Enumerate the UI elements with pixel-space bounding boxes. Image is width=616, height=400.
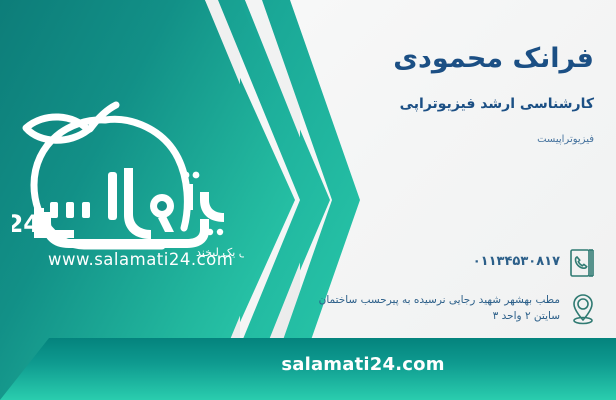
logo-badge-24: 24 (12, 208, 74, 238)
footer-website[interactable]: salamati24.com (0, 354, 616, 375)
business-card: 24 به راحتی یک لبخند www.salamati24.com … (0, 0, 616, 400)
person-name: فرانک محمودی (304, 42, 594, 76)
phone-book-icon (566, 246, 600, 280)
footer-bar: salamati24.com (0, 338, 616, 400)
contact-row-address: مطب بهشهر شهید رجایی نرسیده به پیرحسب سا… (300, 292, 600, 326)
salamati24-logo: 24 به راحتی یک لبخند (12, 96, 244, 271)
details-column: فرانک محمودی کارشناسی ارشد فیزیوتراپی فی… (300, 0, 616, 338)
apple-logo-icon: 24 به راحتی یک لبخند (12, 96, 244, 271)
logo-website-url: www.salamati24.com (48, 250, 233, 269)
person-degree: کارشناسی ارشد فیزیوتراپی (304, 95, 594, 113)
contact-row-phone: ۰۱۱۳۴۵۳۰۸۱۷ (300, 246, 600, 280)
contact-list: ۰۱۱۳۴۵۳۰۸۱۷ مطب بهشهر شهید رجایی نرسیده … (300, 246, 600, 338)
logo-badge-number: 24 (12, 210, 40, 238)
person-specialty: فیزیوتراپیست (304, 133, 594, 146)
map-pin-icon (566, 292, 600, 326)
phone-number[interactable]: ۰۱۱۳۴۵۳۰۸۱۷ (300, 246, 566, 272)
address-text[interactable]: مطب بهشهر شهید رجایی نرسیده به پیرحسب سا… (300, 292, 566, 325)
